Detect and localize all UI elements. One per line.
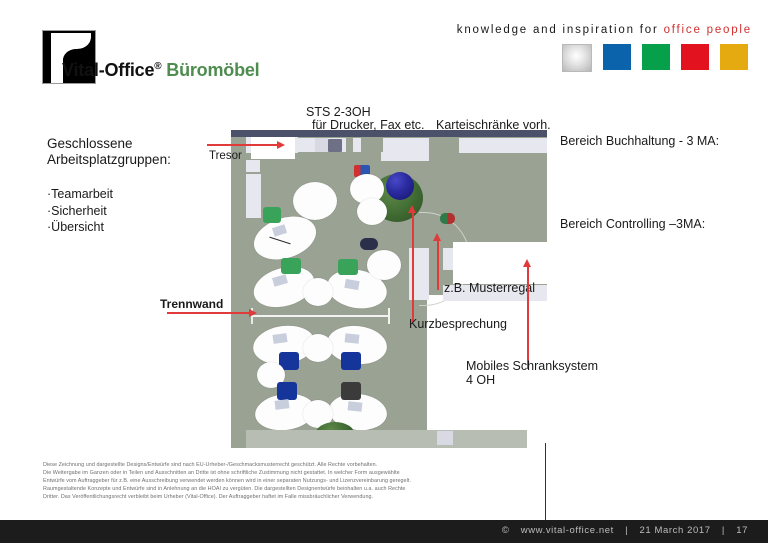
label-bereich-controlling: Bereich Controlling –3MA: <box>560 217 705 231</box>
tresor-unit <box>251 137 295 159</box>
round-table-mid-3 <box>303 334 333 362</box>
swatch-blue <box>603 44 631 70</box>
legal-line-1: Diese Zeichnung und dargestellte Designs… <box>43 461 573 469</box>
swatch-green <box>642 44 670 70</box>
label-schranksystem-line2: 4 OH <box>466 373 495 388</box>
label-bereich-buchhaltung: Bereich Buchhaltung - 3 MA: <box>560 134 719 148</box>
label-musterregal: z.B. Musterregal <box>444 281 535 296</box>
round-table-mid-2 <box>367 250 401 280</box>
logo-wordmark-name: Vital-Office <box>62 60 154 80</box>
brand-color-swatches <box>562 44 748 72</box>
swatch-red <box>681 44 709 70</box>
label-karteischraenke: Karteischränke vorh. <box>436 118 551 133</box>
left-heading: Geschlossene Arbeitsplatzgruppen: <box>47 136 171 168</box>
bottom-wall-band <box>246 430 527 448</box>
person-marker-right <box>440 213 455 224</box>
footer-separator-2: | <box>722 525 725 536</box>
chair-blue-3 <box>277 382 297 400</box>
schranksystem-arrow-head <box>523 259 531 267</box>
label-trennwand: Trennwand <box>160 297 223 312</box>
left-cabinet-upper <box>246 160 260 172</box>
chair-dark-1 <box>341 382 361 400</box>
legal-line-4: Raumgestaltende Konzepte und Entwürfe si… <box>43 485 573 493</box>
musterregal-arrow-head <box>433 233 441 241</box>
top-cabinet-3 <box>383 138 429 153</box>
footer-site: www.vital-office.net <box>521 525 614 536</box>
schranksystem-arrow-line <box>527 266 529 369</box>
label-schranksystem-line1: Mobiles Schranksystem <box>466 359 598 374</box>
footer-bar: © www.vital-office.net | 21 March 2017 |… <box>0 520 768 543</box>
kurzbesprechung-arrow-head <box>408 205 416 213</box>
left-cabinet-tall <box>246 174 261 218</box>
right-room-white <box>453 242 547 284</box>
label-tresor: Tresor <box>209 149 242 164</box>
musterregal-arrow-line <box>437 240 439 290</box>
desk-paper-4 <box>272 333 287 344</box>
tagline-main: knowledge and inspiration for <box>457 24 664 36</box>
printer-unit <box>315 138 328 152</box>
printer-body <box>328 139 342 152</box>
chair-green-3 <box>338 259 358 275</box>
trennwand-arrow-head <box>249 309 257 317</box>
footer-vertical-divider <box>545 443 546 525</box>
bullet-sicherheit: ·Sicherheit <box>47 203 113 220</box>
blue-sphere <box>386 172 414 200</box>
top-cabinet-2 <box>353 138 361 152</box>
slide-root: Vital-Office® Büromöbel knowledge and in… <box>0 0 768 543</box>
tresor-arrow-line <box>207 144 279 146</box>
legal-line-5: Dritter. Das Veröffentlichungsrecht verb… <box>43 493 573 501</box>
legal-line-3: Entwürfe vom Auftraggeber für z.B. eine … <box>43 477 573 485</box>
desk-paper-5 <box>345 333 360 343</box>
desk-paper-7 <box>348 401 363 411</box>
footer-date: 21 March 2017 <box>639 525 710 536</box>
header-tagline: knowledge and inspiration for office peo… <box>396 24 752 36</box>
chair-blue-2 <box>341 352 361 370</box>
swatch-silver <box>562 44 592 72</box>
footer-copyright: © www.vital-office.net | 21 March 2017 |… <box>498 525 752 536</box>
bottom-small-cabinet <box>437 431 453 445</box>
footer-separator-1: | <box>625 525 628 536</box>
workstation-desk-1 <box>293 182 337 220</box>
label-sts-line2: für Drucker, Fax etc. <box>312 118 425 133</box>
bullet-teamarbeit: ·Teamarbeit <box>47 186 113 203</box>
tresor-arrow-head <box>277 141 285 149</box>
kurzbesprechung-arrow-line <box>412 212 414 322</box>
left-bullet-list: ·Teamarbeit ·Sicherheit ·Übersicht <box>47 186 113 236</box>
footer-page-number: 17 <box>736 525 748 536</box>
left-heading-line1: Geschlossene <box>47 136 171 152</box>
round-table-top-2 <box>357 198 387 225</box>
trennwand-line <box>251 315 389 317</box>
trennwand-end-tick <box>388 308 390 324</box>
swatch-gold <box>720 44 748 70</box>
label-kurzbesprechung: Kurzbesprechung <box>409 317 507 332</box>
chair-green-2 <box>281 258 301 274</box>
person-marker <box>360 238 378 250</box>
round-table-mid <box>303 278 333 306</box>
tagline-accent: office people <box>664 24 752 36</box>
top-cabinet-4 <box>459 138 547 153</box>
legal-disclaimer: Diese Zeichnung und dargestellte Designs… <box>43 461 573 501</box>
left-heading-line2: Arbeitsplatzgruppen: <box>47 152 171 168</box>
desk-paper-6 <box>275 399 290 410</box>
logo-registered-icon: ® <box>154 61 161 72</box>
copyright-icon: © <box>502 525 510 536</box>
logo-wordmark-suffix: Büromöbel <box>166 60 259 80</box>
chair-green-1 <box>263 207 281 223</box>
bullet-uebersicht: ·Übersicht <box>47 219 113 236</box>
legal-line-2: Die Weitergabe im Ganzen oder in Teilen … <box>43 469 573 477</box>
logo-wordmark: Vital-Office® Büromöbel <box>62 60 259 81</box>
right-cabinet-top <box>381 152 429 161</box>
trennwand-arrow-line <box>167 312 251 314</box>
